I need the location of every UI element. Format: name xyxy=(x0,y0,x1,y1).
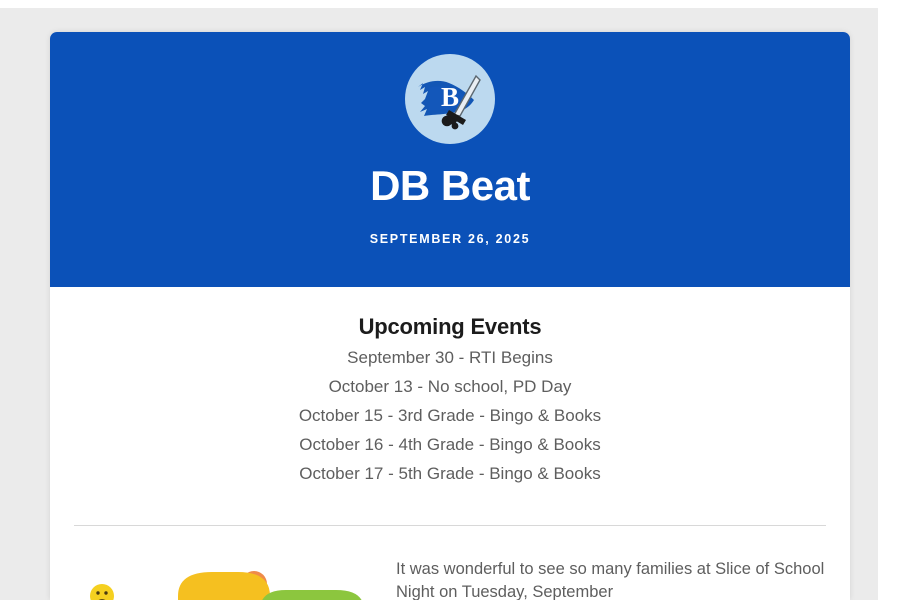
school-flag-sword-logo-icon: B xyxy=(405,54,495,144)
newsletter-body: Upcoming Events September 30 - RTI Begin… xyxy=(50,314,850,526)
newsletter-title: DB Beat xyxy=(50,164,850,208)
upcoming-events-heading: Upcoming Events xyxy=(74,314,826,340)
event-item: October 13 - No school, PD Day xyxy=(74,376,826,398)
event-item: October 17 - 5th Grade - Bingo & Books xyxy=(74,463,826,485)
feedback-story-paragraph: It was wonderful to see so many families… xyxy=(374,558,826,600)
we-want-your-feedback-graphic: WE WANT YOUR FEEDBACK xyxy=(74,558,374,600)
right-gutter xyxy=(878,0,900,600)
event-item: October 16 - 4th Grade - Bingo & Books xyxy=(74,434,826,456)
feedback-story-section: WE WANT YOUR FEEDBACK It was wonderful t… xyxy=(50,558,850,600)
section-divider xyxy=(74,525,826,526)
event-item: October 15 - 3rd Grade - Bingo & Books xyxy=(74,405,826,427)
newsletter-card: B DB Beat SEPTEMBER 26, 2025 Upcoming Ev… xyxy=(50,32,850,600)
event-item: September 30 - RTI Begins xyxy=(74,347,826,369)
newsletter-header: B DB Beat SEPTEMBER 26, 2025 xyxy=(50,32,850,287)
newsletter-date: SEPTEMBER 26, 2025 xyxy=(50,232,850,246)
top-gutter xyxy=(0,0,878,8)
svg-text:B: B xyxy=(441,82,459,112)
newsletter-page: B DB Beat SEPTEMBER 26, 2025 Upcoming Ev… xyxy=(0,0,900,600)
